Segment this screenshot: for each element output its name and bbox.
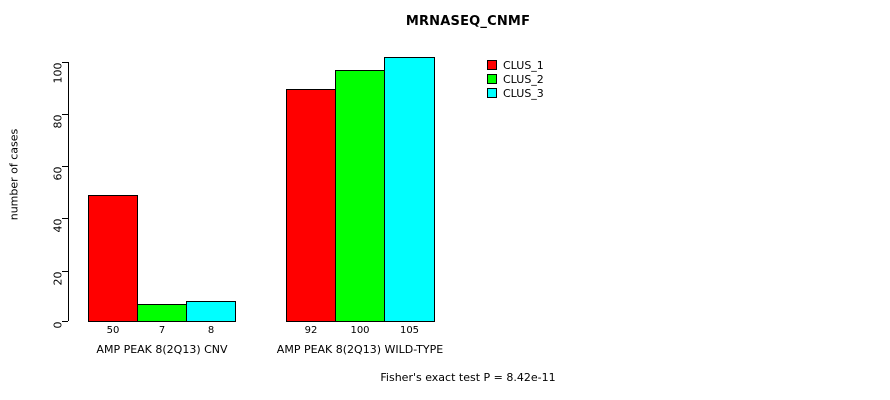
fisher-test-annotation: Fisher's exact test P = 8.42e-11 <box>68 371 868 384</box>
legend-swatch-icon-clus1 <box>487 60 497 70</box>
bar-value-group2-clus1: 92 <box>286 325 336 336</box>
legend-item-clus3: CLUS_3 <box>487 86 544 100</box>
bar-group1-clus3 <box>186 301 236 322</box>
y-tick-label-20-box: 20 <box>10 265 58 277</box>
y-axis-line <box>68 62 69 321</box>
bar-value-group2-clus2: 100 <box>335 325 385 336</box>
y-tick-label-20: 20 <box>52 272 65 286</box>
group-label-wild-type: AMP PEAK 8(2Q13) WILD-TYPE <box>240 343 480 356</box>
legend-label-clus3: CLUS_3 <box>503 87 544 100</box>
y-tick-label-40: 40 <box>52 219 65 233</box>
y-tick-label-100: 100 <box>52 63 65 84</box>
bar-group1-clus1 <box>88 195 138 322</box>
legend-swatch-icon-clus2 <box>487 74 497 84</box>
legend-label-clus2: CLUS_2 <box>503 73 544 86</box>
bar-group1-clus2 <box>137 304 187 322</box>
bar-chart-plot: MRNASEQ_CNMF 0 20 40 60 80 100 number of… <box>0 0 890 400</box>
bar-group2-clus2 <box>335 70 385 322</box>
legend: CLUS_1 CLUS_2 CLUS_3 <box>487 58 544 100</box>
y-tick-label-80: 80 <box>52 115 65 129</box>
legend-label-clus1: CLUS_1 <box>503 59 544 72</box>
bar-value-group1-clus1: 50 <box>88 325 138 336</box>
y-tick-label-100-box: 100 <box>10 56 58 68</box>
bar-value-group2-clus3: 105 <box>384 325 435 336</box>
legend-swatch-icon-clus3 <box>487 88 497 98</box>
legend-item-clus1: CLUS_1 <box>487 58 544 72</box>
y-tick-label-60: 60 <box>52 167 65 181</box>
bar-value-group1-clus2: 7 <box>137 325 187 336</box>
y-tick-label-0: 0 <box>52 322 65 329</box>
y-tick-label-0-box: 0 <box>10 315 58 327</box>
bar-group2-clus1 <box>286 89 336 322</box>
chart-title: MRNASEQ_CNMF <box>68 14 868 29</box>
legend-item-clus2: CLUS_2 <box>487 72 544 86</box>
bar-group2-clus3 <box>384 57 435 322</box>
chart-title-container: MRNASEQ_CNMF <box>68 14 868 29</box>
y-axis-title: number of cases <box>8 115 21 235</box>
bar-value-group1-clus3: 8 <box>186 325 236 336</box>
